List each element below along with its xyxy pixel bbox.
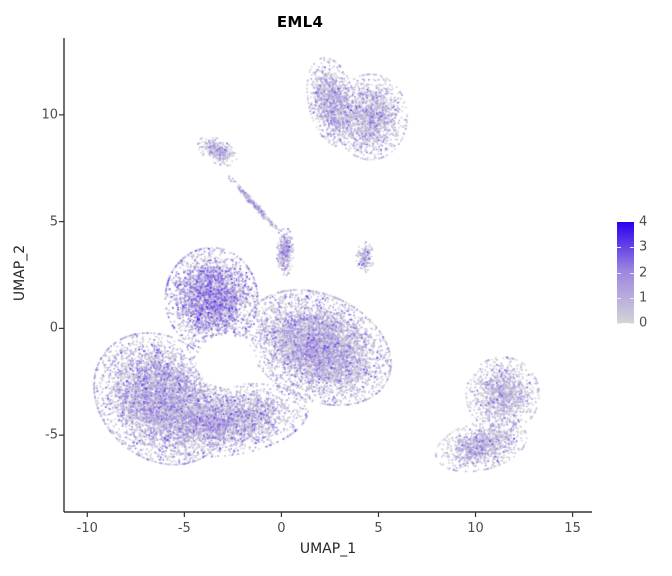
legend-tick-mark xyxy=(630,247,634,248)
legend-tick-label: 4 xyxy=(639,215,647,230)
legend-tick-label: 2 xyxy=(639,265,647,280)
x-axis-title: UMAP_1 xyxy=(64,541,592,557)
x-tick-label: 15 xyxy=(564,521,581,536)
umap-feature-plot: EML4 -10-5051015 1050-5 UMAP_1 UMAP_2 43… xyxy=(0,0,672,576)
x-tick-label: -10 xyxy=(77,521,98,536)
legend-tick-label: 1 xyxy=(639,290,647,305)
legend-tick-mark xyxy=(617,273,621,274)
y-tick-label: -5 xyxy=(14,428,58,443)
legend-tick-mark xyxy=(630,323,634,324)
legend-tick-mark xyxy=(617,247,621,248)
x-tick-label: 10 xyxy=(467,521,484,536)
y-tick-label: 10 xyxy=(14,107,58,122)
legend-tick-mark xyxy=(617,323,621,324)
x-tick-label: 0 xyxy=(277,521,285,536)
legend-tick-mark xyxy=(630,298,634,299)
plot-axes xyxy=(0,0,672,576)
x-tick-label: -5 xyxy=(178,521,191,536)
legend-tick-mark xyxy=(630,273,634,274)
legend-tick-label: 3 xyxy=(639,240,647,255)
legend-tick-mark xyxy=(617,298,621,299)
y-axis-title: UMAP_2 xyxy=(12,213,28,333)
legend-tick-label: 0 xyxy=(639,316,647,331)
x-tick-label: 5 xyxy=(374,521,382,536)
